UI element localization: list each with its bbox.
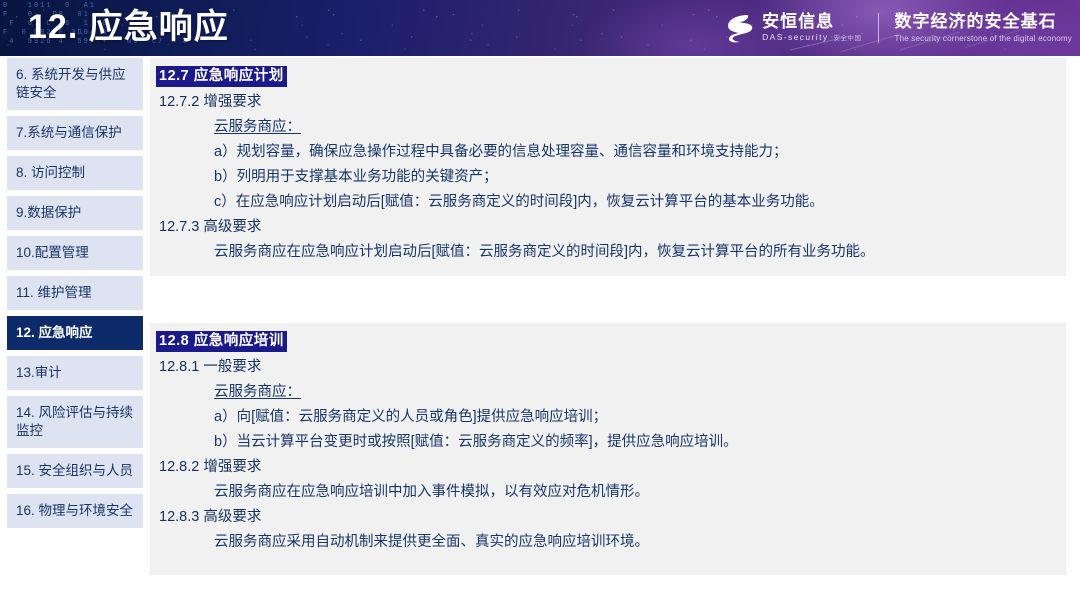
section-12-8-1-intro: 云服务商应： (156, 380, 1056, 405)
section-12-7-2-intro-text: 云服务商应： (214, 119, 301, 135)
section-12-7-2-item-b: b）列明用于支撑基本业务功能的关键资产； (156, 165, 1056, 190)
logo-tagline-en: The security cornerstone of the digital … (895, 33, 1073, 44)
section-12-7-heading: 12.7 应急响应计划 (156, 66, 287, 87)
logo-company-name-en: DAS-security (762, 32, 828, 42)
sidebar-item-12-active[interactable]: 12. 应急响应 (7, 316, 143, 350)
section-12-7-2-intro: 云服务商应： (156, 115, 1056, 140)
section-12-8-3-paragraph: 云服务商应采用自动机制来提供更全面、真实的应急响应培训环境。 (156, 530, 1056, 555)
sidebar-item-14[interactable]: 14. 风险评估与持续监控 (7, 396, 143, 448)
section-12-7-panel: 12.7 应急响应计划 12.7.2 增强要求 云服务商应： a）规划容量，确保… (150, 58, 1066, 276)
sidebar-item-16[interactable]: 16. 物理与环境安全 (7, 494, 143, 528)
slide-header: B 1011 0 A1 F 0 D8 01 7 F 0 C 6 1 0 F 0 … (0, 0, 1080, 56)
section-12-8-1-item-b: b）当云计算平台变更时或按照[赋值：云服务商定义的频率]，提供应急响应培训。 (156, 430, 1056, 455)
logo-tagline-cn: 数字经济的安全基石 (895, 12, 1073, 31)
sidebar-item-7[interactable]: 7.系统与通信保护 (7, 116, 143, 150)
section-12-7-3-paragraph: 云服务商应在应急响应计划启动后[赋值：云服务商定义的时间段]内，恢复云计算平台的… (156, 240, 1056, 265)
subsection-12-7-3-heading: 12.7.3 高级要求 (156, 215, 1056, 240)
section-12-7-2-item-a: a）规划容量，确保应急操作过程中具备必要的信息处理容量、通信容量和环境支持能力； (156, 140, 1056, 165)
sidebar-item-6[interactable]: 6. 系统开发与供应链安全 (7, 58, 143, 110)
subsection-12-8-3-heading: 12.8.3 高级要求 (156, 505, 1056, 530)
section-12-8-panel: 12.8 应急响应培训 12.8.1 一般要求 云服务商应： a）向[赋值：云服… (150, 323, 1066, 575)
section-12-8-1-intro-text: 云服务商应： (214, 384, 301, 400)
sidebar-item-15[interactable]: 15. 安全组织与人员 (7, 454, 143, 488)
logo-company-subtitle-cn: 安全中国 (834, 34, 862, 44)
sidebar-item-8[interactable]: 8. 访问控制 (7, 156, 143, 190)
sidebar-item-9[interactable]: 9.数据保护 (7, 196, 143, 230)
chapter-sidebar[interactable]: 6. 系统开发与供应链安全 7.系统与通信保护 8. 访问控制 9.数据保护 1… (7, 58, 143, 534)
logo-company-name-cn: 安恒信息 (762, 12, 861, 31)
subsection-12-7-2-heading: 12.7.2 增强要求 (156, 90, 1056, 115)
section-12-8-1-item-a: a）向[赋值：云服务商定义的人员或角色]提供应急响应培训； (156, 405, 1056, 430)
section-12-8-2-paragraph: 云服务商应在应急响应培训中加入事件模拟，以有效应对危机情形。 (156, 480, 1056, 505)
brand-logo: 安恒信息 DAS-security 安全中国 数字经济的安全基石 The sec… (724, 6, 1072, 50)
section-12-8-heading: 12.8 应急响应培训 (156, 331, 287, 352)
section-12-7-2-item-c: c）在应急响应计划启动后[赋值：云服务商定义的时间段]内，恢复云计算平台的基本业… (156, 190, 1056, 215)
das-security-swoosh-logo-icon (724, 12, 754, 44)
sidebar-item-13[interactable]: 13.审计 (7, 356, 143, 390)
logo-divider (878, 13, 879, 43)
subsection-12-8-2-heading: 12.8.2 增强要求 (156, 455, 1056, 480)
subsection-12-8-1-heading: 12.8.1 一般要求 (156, 355, 1056, 380)
sidebar-item-11[interactable]: 11. 维护管理 (7, 276, 143, 310)
slide-content: 12.7 应急响应计划 12.7.2 增强要求 云服务商应： a）规划容量，确保… (150, 58, 1066, 575)
sidebar-item-10[interactable]: 10.配置管理 (7, 236, 143, 270)
page-title: 12. 应急响应 (28, 4, 229, 50)
